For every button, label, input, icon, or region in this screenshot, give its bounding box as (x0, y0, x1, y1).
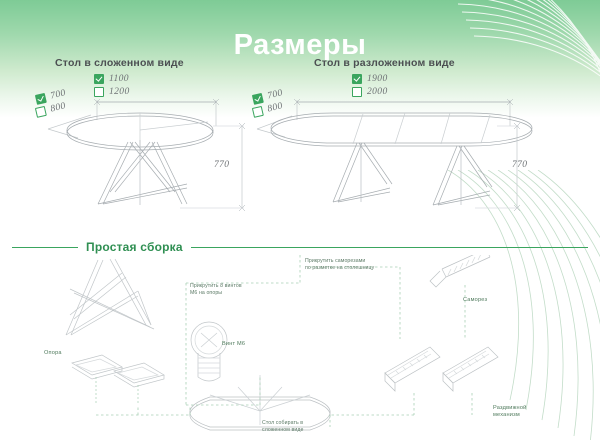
checkbox-unchecked-icon[interactable] (352, 87, 362, 97)
checkbox-checked-icon[interactable] (35, 93, 47, 105)
width-options-folded[interactable]: 1100 1200 (94, 74, 130, 100)
divider-left (12, 247, 78, 248)
width-options-unfolded[interactable]: 1900 2000 (352, 74, 388, 100)
height-dimension-unfolded: 770 (512, 160, 527, 170)
part-label-samorez: Саморез (463, 297, 487, 304)
checkbox-checked-icon[interactable] (94, 74, 104, 84)
option-value: 700 (266, 88, 283, 101)
option-value: 800 (266, 101, 283, 114)
assembly-section-header: Простая сборка (0, 239, 600, 255)
depth-options-unfolded[interactable]: 700 800 (253, 95, 283, 121)
option-value: 700 (49, 88, 66, 101)
height-dimension-folded: 770 (214, 160, 229, 170)
option-row[interactable]: 1200 (94, 87, 130, 97)
checkbox-unchecked-icon[interactable] (94, 87, 104, 97)
checkbox-unchecked-icon[interactable] (35, 106, 47, 118)
infographic-page: Размеры Стол в сложенном виде Стол в раз… (0, 0, 600, 440)
section-caption-folded: Стол в сложенном виде (55, 57, 184, 69)
part-label-vint: Винт М6 (222, 341, 245, 348)
part-label-mechanism: Раздвижной механизм (493, 405, 526, 419)
depth-options-folded[interactable]: 700 800 (36, 95, 66, 121)
option-row[interactable]: 1100 (94, 74, 130, 84)
section-caption-unfolded: Стол в разложенном виде (314, 57, 455, 69)
assembly-diagram-icon (10, 255, 530, 435)
assembly-title: Простая сборка (78, 240, 191, 254)
part-label-opora: Опора (44, 350, 62, 357)
note-selftap: Прикрутить саморезами по разметке на сто… (305, 258, 405, 272)
option-value: 800 (49, 101, 66, 114)
divider-right (191, 247, 588, 248)
option-value: 1900 (367, 74, 388, 84)
checkbox-unchecked-icon[interactable] (252, 106, 264, 118)
option-value: 1200 (109, 87, 130, 97)
option-row[interactable]: 2000 (352, 87, 388, 97)
option-row[interactable]: 1900 (352, 74, 388, 84)
checkbox-checked-icon[interactable] (352, 74, 362, 84)
note-screws: Прикрутить 8 винтов М6 на опоры (190, 283, 280, 297)
swirl-lines-decoration-icon (440, 170, 600, 440)
option-value: 1100 (109, 74, 129, 84)
checkbox-checked-icon[interactable] (252, 93, 264, 105)
note-fold: Стол собирать в сложенном виде (262, 420, 352, 434)
option-value: 2000 (367, 87, 388, 97)
